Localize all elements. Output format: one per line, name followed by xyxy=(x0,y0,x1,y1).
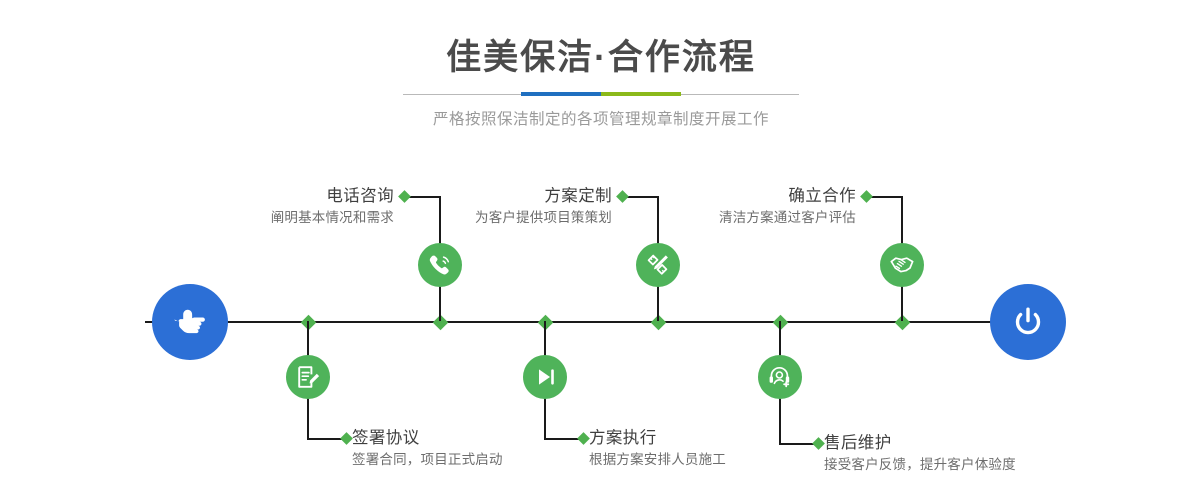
timeline-start-node xyxy=(152,284,228,360)
step-icon-2 xyxy=(286,355,330,399)
step-title-3: 方案定制 xyxy=(370,186,612,206)
pencil-ruler-icon xyxy=(644,251,672,279)
step-desc-2: 签署合同，项目正式启动 xyxy=(352,450,503,470)
document-edit-icon xyxy=(294,363,322,391)
step-title-5: 确立合作 xyxy=(614,186,856,206)
process-timeline: 电话咨询 阐明基本情况和需求 签署协议 签署合同， xyxy=(0,0,1202,502)
pointing-hand-icon xyxy=(168,300,212,344)
step-title-6: 售后维护 xyxy=(824,433,1016,453)
handshake-icon xyxy=(888,251,916,279)
step-title-2: 签署协议 xyxy=(352,428,503,448)
phone-call-icon xyxy=(426,251,454,279)
customer-service-icon xyxy=(766,363,794,391)
cooperation-process-infographic: 佳美保洁·合作流程 严格按照保洁制定的各项管理规章制度开展工作 xyxy=(0,0,1202,502)
step-label-4: 方案执行 根据方案安排人员施工 xyxy=(589,428,726,470)
step-desc-5: 清洁方案通过客户评估 xyxy=(614,208,856,228)
step-desc-6: 接受客户反馈，提升客户体验度 xyxy=(824,455,1016,475)
step-label-3: 方案定制 为客户提供项目策策划 xyxy=(370,186,612,228)
step-title-4: 方案执行 xyxy=(589,428,726,448)
label-marker-2 xyxy=(340,432,353,445)
label-marker-4 xyxy=(577,432,590,445)
step-icon-4 xyxy=(523,355,567,399)
timeline-end-node xyxy=(990,284,1066,360)
step-label-5: 确立合作 清洁方案通过客户评估 xyxy=(614,186,856,228)
step-icon-5 xyxy=(880,243,924,287)
step-label-6: 售后维护 接受客户反馈，提升客户体验度 xyxy=(824,433,1016,475)
step-desc-4: 根据方案安排人员施工 xyxy=(589,450,726,470)
label-marker-6 xyxy=(812,437,825,450)
label-marker-5 xyxy=(860,190,873,203)
step-label-1: 电话咨询 阐明基本情况和需求 xyxy=(150,186,394,228)
step-icon-3 xyxy=(636,243,680,287)
step-icon-6 xyxy=(758,355,802,399)
step-label-2: 签署协议 签署合同，项目正式启动 xyxy=(352,428,503,470)
step-title-1: 电话咨询 xyxy=(150,186,394,206)
step-desc-1: 阐明基本情况和需求 xyxy=(150,208,394,228)
timeline-axis xyxy=(145,321,1057,323)
power-icon xyxy=(1006,300,1050,344)
play-execute-icon xyxy=(531,363,559,391)
step-icon-1 xyxy=(418,243,462,287)
step-desc-3: 为客户提供项目策策划 xyxy=(370,208,612,228)
